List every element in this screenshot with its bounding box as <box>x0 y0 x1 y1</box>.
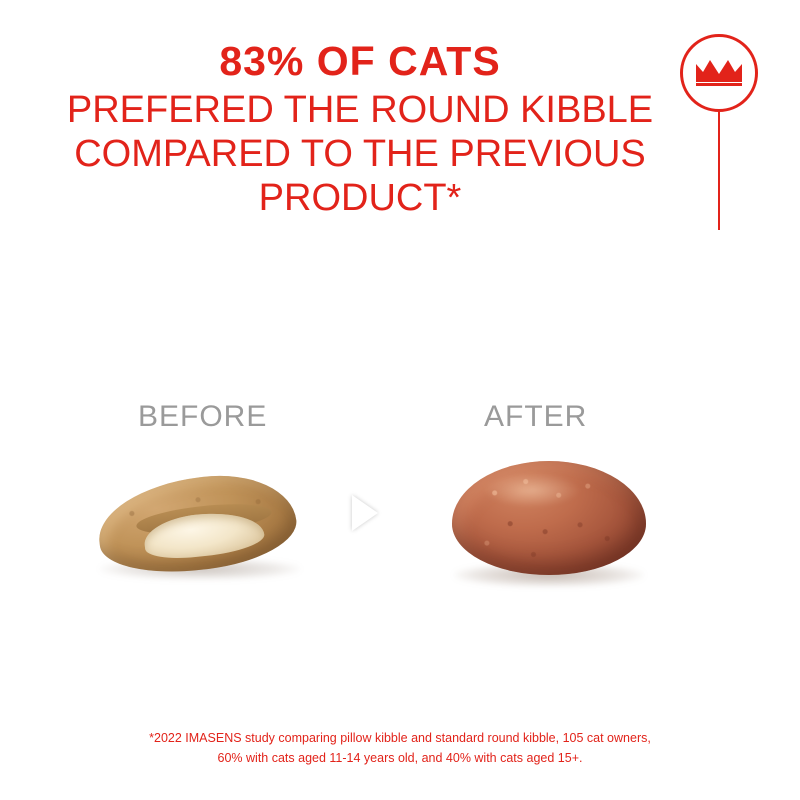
after-label: AFTER <box>484 400 587 434</box>
footnote-line-1: *2022 IMASENS study comparing pillow kib… <box>60 728 740 748</box>
triangle-right-icon <box>352 495 378 531</box>
after-kibble-image <box>440 455 660 595</box>
headline-line-4: PRODUCT* <box>60 179 660 218</box>
before-kibble-image <box>92 470 312 590</box>
headline: 83% OF CATS PREFERED THE ROUND KIBBLE CO… <box>60 40 660 219</box>
footnote-line-2: 60% with cats aged 11-14 years old, and … <box>60 748 740 768</box>
footnote: *2022 IMASENS study comparing pillow kib… <box>60 728 740 768</box>
headline-line-2: PREFERED THE ROUND KIBBLE <box>60 91 660 130</box>
after-kibble-highlight <box>484 473 580 507</box>
logo-stem-line <box>718 112 720 230</box>
headline-line-3: COMPARED TO THE PREVIOUS <box>60 135 660 174</box>
royal-canin-crown-logo <box>680 34 758 112</box>
product-comparison-poster: 83% OF CATS PREFERED THE ROUND KIBBLE CO… <box>0 0 800 800</box>
crown-icon <box>694 56 744 86</box>
before-label: BEFORE <box>138 400 267 434</box>
headline-line-1: 83% OF CATS <box>60 40 660 82</box>
